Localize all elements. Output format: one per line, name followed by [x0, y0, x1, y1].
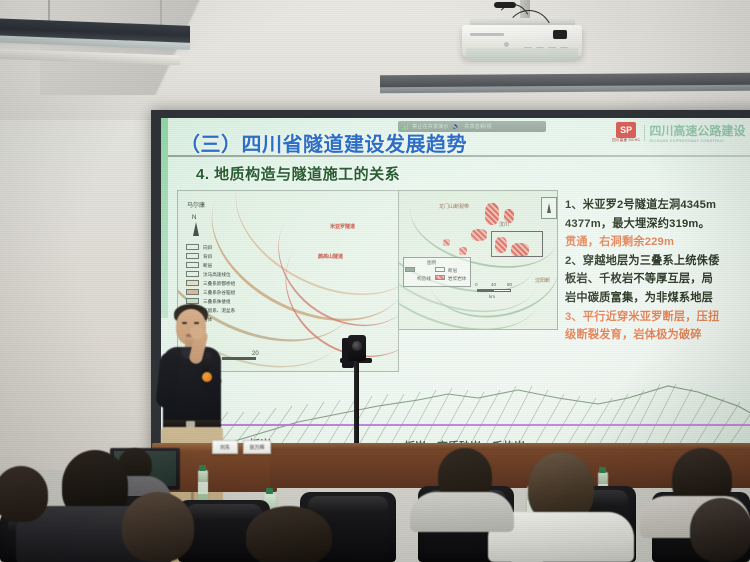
- inset-igneous-body: [485, 203, 499, 225]
- projector-vent: [470, 33, 504, 36]
- map-place-label: 马尔康: [187, 200, 205, 209]
- legend-swatch-syncline: [186, 244, 199, 250]
- legend-swatch-route: [186, 271, 199, 277]
- compass-icon: N: [192, 215, 196, 221]
- compass-needle: [193, 222, 199, 236]
- map-scalebar: [222, 357, 256, 360]
- inset-label: 沈阳断: [535, 277, 550, 284]
- inset-legend-label: 构造线: [417, 275, 431, 283]
- body-line: 岩中碳质富集，为非煤系地层: [565, 289, 750, 308]
- legend-label: 向斜: [203, 244, 212, 252]
- legend-swatch-anticline: [186, 253, 199, 259]
- audience-body: [410, 492, 514, 532]
- inset-scale-label: 80: [507, 281, 512, 289]
- legend-label: 汶马高速线位: [203, 271, 231, 279]
- inset-compass-needle: [547, 203, 551, 213]
- inset-scalebar: [477, 289, 511, 292]
- chair-sheen: [308, 496, 388, 512]
- projector-lens-housing: [466, 48, 578, 62]
- body-line: 3、平行近穿米亚罗断层，压扭: [565, 308, 750, 327]
- audience-head: [246, 506, 332, 562]
- map-tunnel-label-1: 米亚罗隧道: [330, 223, 355, 230]
- logo-divider: [644, 125, 645, 141]
- inset-legend-label: 岩浆岩体: [448, 275, 466, 283]
- inset-legend-title: 图例: [427, 259, 436, 267]
- body-line: 1、米亚罗2号隧道左洞4345m: [565, 196, 750, 215]
- logo-name-en: SICHUAN EXPRESSWAY CONSTRUC: [649, 139, 745, 143]
- logo-mark-icon: SP: [616, 122, 636, 138]
- tunnel-alignment-line: [181, 424, 750, 426]
- projector-cable-clip: [494, 2, 516, 8]
- map-tunnel-label-2: 鹧鸪山隧道: [318, 253, 343, 260]
- geological-map-inset: 龙门山断裂带 汶川 沈阳断 图例 断层 岩浆岩体 构造线 0 40 80 km: [398, 190, 558, 330]
- body-line: 4377m，最大埋深约319m。: [565, 215, 750, 234]
- bottle-cap: [266, 488, 273, 494]
- slide-body-text: 1、米亚罗2号隧道左洞4345m 4377m，最大埋深约319m。 贯通，右洞剩…: [565, 196, 750, 345]
- chair-sheen: [186, 504, 262, 520]
- inset-igneous-body: [459, 247, 467, 255]
- name-card: 刘东: [212, 440, 238, 454]
- body-line: 板岩、千枚岩不等厚互层，局: [565, 270, 750, 289]
- audience-head: [0, 466, 48, 522]
- legend-swatch-fm1: [186, 280, 199, 286]
- projector-port: [504, 42, 509, 47]
- presenter-eye-right: [194, 322, 199, 324]
- inset-legend-swatch-fault: [435, 267, 445, 272]
- microphone-windscreen: [202, 372, 212, 382]
- organization-logo: SP 四川高速 SiCHC 四川高速公路建设 SICHUAN EXPRESSWA…: [612, 122, 745, 143]
- bottle-cap: [599, 467, 606, 473]
- inset-scale-label: 0: [475, 281, 478, 289]
- inset-label: 龙门山断裂带: [439, 203, 469, 210]
- screen-edge-highlight: [161, 118, 168, 318]
- inset-label: 汶川: [499, 221, 509, 228]
- legend-label: 三叠系杂谷脑组: [203, 289, 235, 297]
- legend-swatch-fault: [186, 262, 199, 268]
- audience-head: [122, 492, 194, 562]
- legend-swatch-fm2: [186, 289, 199, 295]
- map-scale-label: 20: [252, 351, 259, 357]
- slide-subtitle: 4. 地质构造与隧道施工的关系: [196, 163, 400, 184]
- inset-legend-label: 断层: [448, 267, 457, 275]
- presenter-hand: [190, 326, 204, 339]
- legend-label: 三叠系新都桥组: [203, 280, 235, 288]
- inset-igneous-body: [443, 239, 450, 246]
- logo-mark-subtext: 四川高速 SiCHC: [612, 138, 640, 143]
- name-card: 张万辉: [243, 440, 271, 454]
- slide-title: （三）四川省隧道建设发展趋势: [180, 128, 467, 157]
- inset-scale-label: 40: [491, 281, 496, 289]
- inset-igneous-body: [471, 229, 487, 241]
- body-line: 级断裂发育，岩体极为破碎: [565, 326, 750, 345]
- legend-label: 背斜: [203, 253, 212, 261]
- legend-label: 三叠系侏倭组: [203, 298, 231, 306]
- title-divider: [168, 155, 750, 157]
- projector-connector-box: [553, 30, 567, 39]
- camera-lens-icon: [352, 341, 362, 351]
- photo-scene: 马尔康 N 米亚罗隧道 鹧鸪山隧道 向斜 背斜 断层 汶马高速线位 三叠系新都桥…: [0, 0, 750, 562]
- inset-legend-swatch-igneous: [435, 275, 445, 280]
- inset-scale-unit: km: [489, 293, 495, 301]
- body-line: 2、穿越地层为三叠系上统侏倭: [565, 252, 750, 271]
- bottle-cap: [199, 465, 206, 471]
- desk-row-top-surface: [265, 443, 750, 450]
- body-line: 贯通，右洞剩余229m: [565, 233, 750, 252]
- audience-head: [690, 498, 750, 562]
- legend-label: 断层: [203, 262, 212, 270]
- inset-highlight-rect: [491, 231, 543, 257]
- presenter-eye-left: [182, 322, 187, 324]
- logo-name-cn: 四川高速公路建设: [649, 122, 745, 139]
- share-bar-text-right: 共享音频/视: [464, 123, 492, 130]
- bottle-label: [198, 482, 208, 494]
- inset-legend-swatch-struct: [405, 267, 415, 272]
